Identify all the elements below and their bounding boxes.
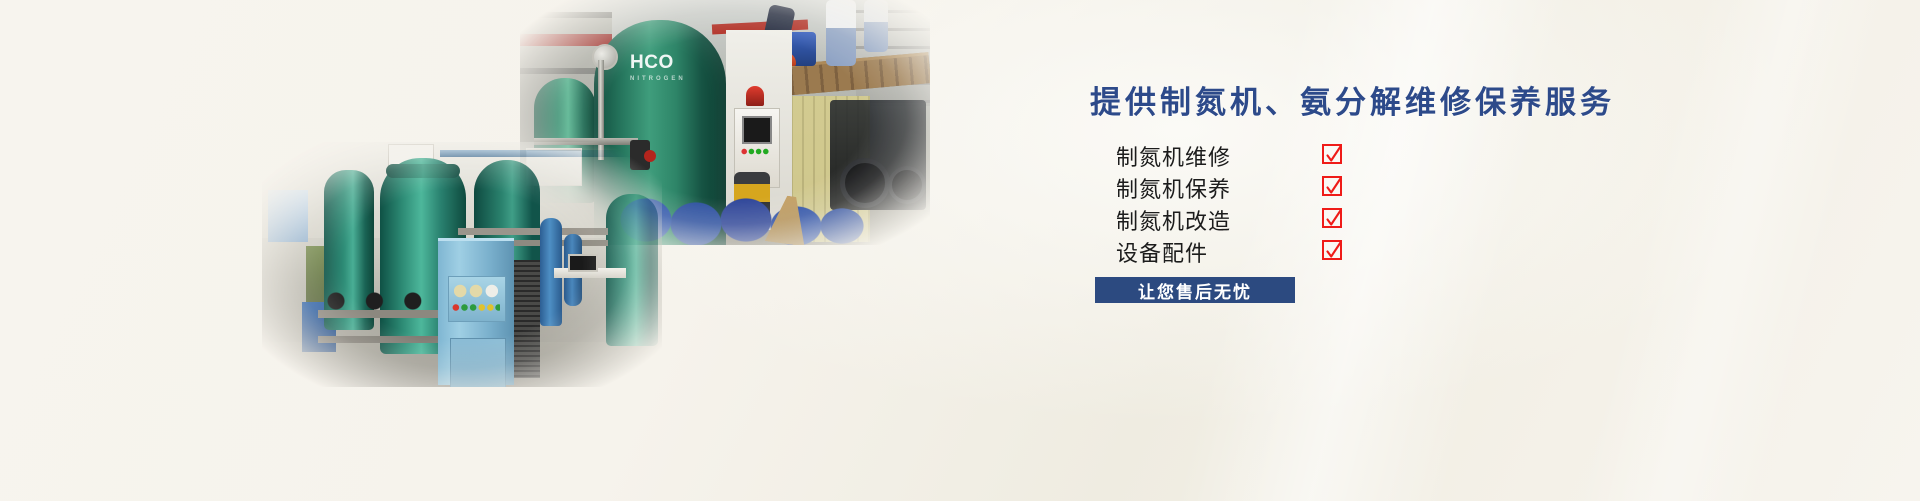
service-banner: HCO NITROGEN — [0, 0, 1920, 501]
banner-content: 提供制氮机、氨分解维修保养服务 制氮机维修 制氮机保养 — [1090, 0, 1730, 501]
cabinet-front-panel — [448, 276, 506, 322]
tank-logo-text: HCO — [630, 52, 674, 73]
alarm-beacon — [746, 86, 764, 106]
tank-logo-subtext: NITROGEN — [630, 76, 686, 82]
feature-label: 制氮机改造 — [1116, 204, 1231, 236]
photo-bottom-scene — [262, 142, 662, 387]
feature-label: 制氮机维修 — [1116, 140, 1231, 172]
cta-button[interactable]: 让您售后无忧 — [1095, 277, 1295, 303]
panel-screen — [742, 116, 772, 144]
pipe-flange — [592, 44, 618, 70]
check-icon — [1322, 240, 1342, 260]
list-item: 制氮机保养 — [1116, 172, 1446, 204]
list-item: 制氮机改造 — [1116, 204, 1446, 236]
list-item: 设备配件 — [1116, 236, 1446, 268]
page-title: 提供制氮机、氨分解维修保养服务 — [1090, 77, 1615, 122]
feature-label: 设备配件 — [1116, 236, 1208, 268]
indicator-lights — [740, 148, 770, 155]
photo-psa-nitrogen-skid — [262, 142, 662, 387]
check-icon — [1322, 144, 1342, 164]
check-icon — [1322, 176, 1342, 196]
cabinet-door — [450, 338, 506, 387]
tank-logo: HCO NITROGEN — [630, 52, 686, 82]
worker-figure — [864, 0, 888, 52]
list-item: 制氮机维修 — [1116, 140, 1446, 172]
pressure-gauges — [454, 284, 498, 298]
control-buttons — [452, 304, 500, 311]
worker-figure — [826, 0, 856, 66]
digital-display — [568, 254, 598, 272]
feature-list: 制氮机维修 制氮机保养 制氮机改造 — [1116, 140, 1446, 268]
feature-label: 制氮机保养 — [1116, 172, 1231, 204]
wall-poster — [268, 190, 308, 242]
condenser-coil — [514, 260, 540, 378]
pneumatic-valves — [324, 290, 444, 312]
cta-button-label: 让您售后无忧 — [1138, 278, 1252, 303]
check-icon — [1322, 208, 1342, 228]
overhead-rail — [440, 150, 640, 157]
